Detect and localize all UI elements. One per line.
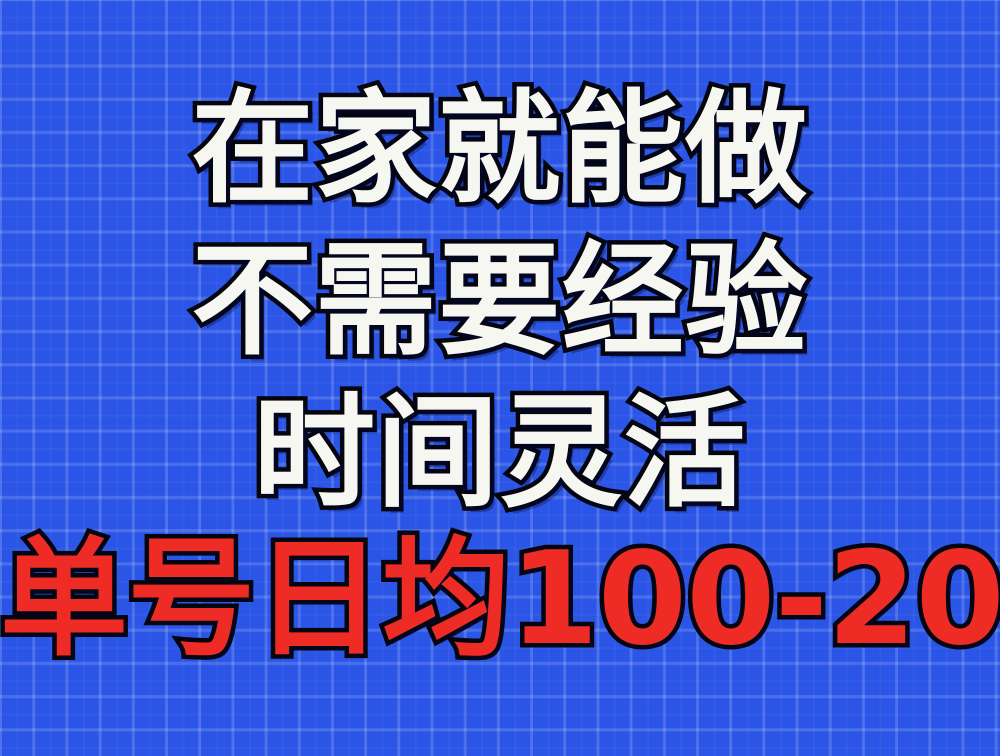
headline-line-2: 不需要经验 bbox=[0, 240, 1000, 362]
headline-line-4-earnings: 单号日均100-200 bbox=[0, 536, 1000, 664]
headline-stack: 在家就能做 不需要经验 时间灵活 单号日均100-200 bbox=[0, 0, 1000, 756]
headline-line-1: 在家就能做 bbox=[0, 88, 1000, 210]
headline-line-3: 时间灵活 bbox=[0, 392, 1000, 514]
promo-poster: 在家就能做 不需要经验 时间灵活 单号日均100-200 bbox=[0, 0, 1000, 756]
